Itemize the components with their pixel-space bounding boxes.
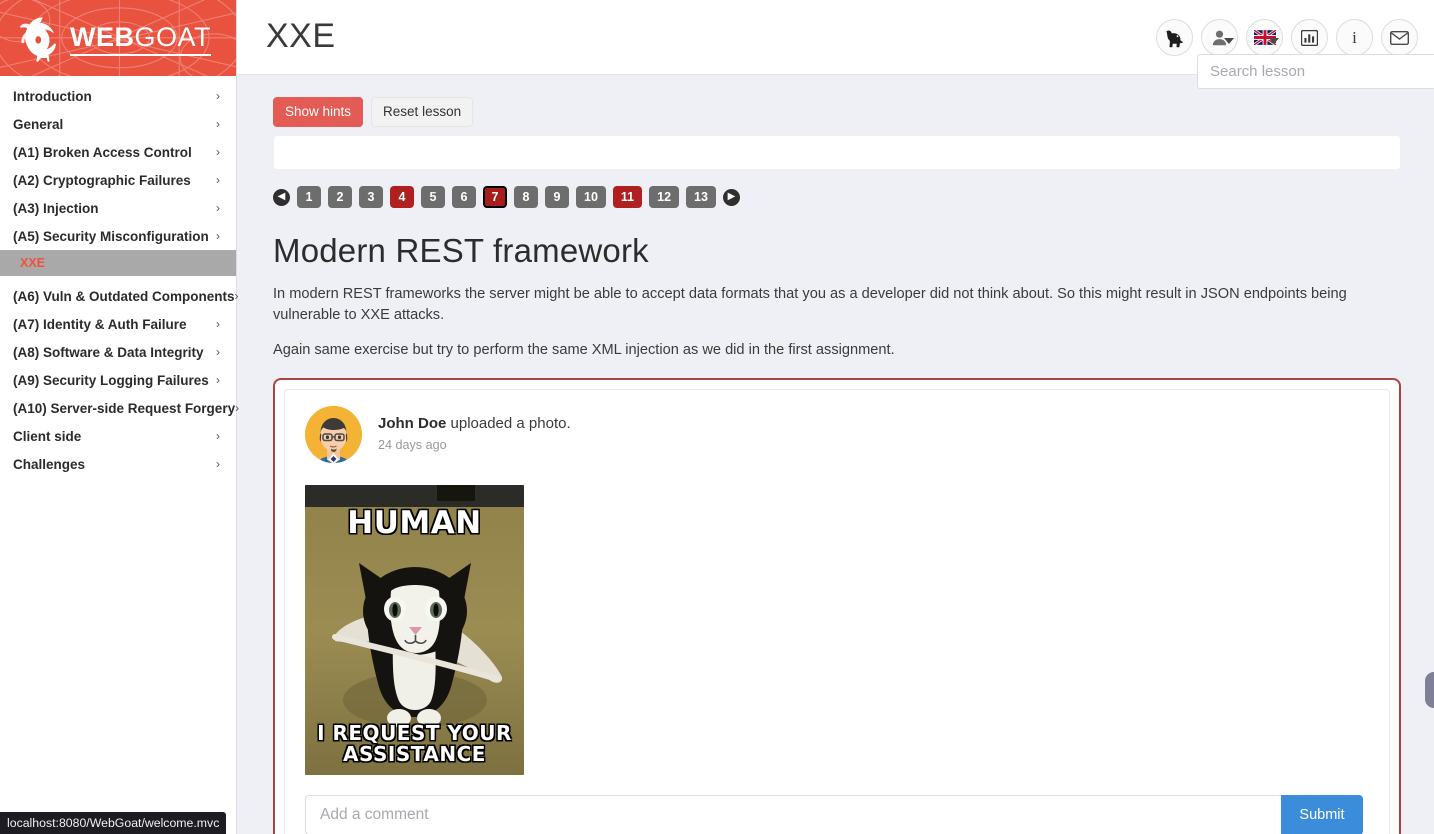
post-timestamp: 24 days ago [378,438,571,452]
page-button-11[interactable]: 11 [613,186,642,208]
page-button-13[interactable]: 13 [686,186,716,208]
sidebar-item-xxe[interactable]: XXE [0,250,236,276]
page-button-3[interactable]: 3 [359,186,383,208]
sidebar-item-challenges[interactable]: Challenges › [0,450,236,478]
sidebar-item-label: (A2) Cryptographic Failures [13,173,191,188]
sidebar-item-a8-software-data-integrity[interactable]: (A8) Software & Data Integrity › [0,338,236,366]
sidebar-item-label: Challenges [13,457,85,472]
sidebar-item-label: (A3) Injection [13,201,99,216]
sidebar-item-a6-vuln-outdated-components[interactable]: (A6) Vuln & Outdated Components › [0,282,236,310]
chevron-right-icon: › [216,117,220,131]
scroll-indicator[interactable] [1425,672,1434,708]
comment-form: Submit [305,795,1363,834]
sidebar-item-client-side[interactable]: Client side › [0,422,236,450]
meme-bottom-caption: I REQUEST YOUR ASSISTANCE [305,723,524,765]
sidebar-item-a3-injection[interactable]: (A3) Injection › [0,194,236,222]
chevron-right-icon: › [216,229,220,243]
chevron-right-icon: › [216,457,220,471]
cat-meme-image: HUMAN I REQUEST YOUR ASSISTANCE [305,485,524,775]
sidebar-item-introduction[interactable]: Introduction › [0,82,236,110]
brand-header[interactable]: WEBGOAT [0,0,236,76]
post-header: John Doe uploaded a photo. 24 days ago [305,406,1369,463]
post-meta: John Doe uploaded a photo. 24 days ago [378,406,571,452]
sidebar-item-label: (A5) Security Misconfiguration [13,229,209,244]
chevron-right-icon: › [216,345,220,359]
arrow-left-icon: ◀ [278,192,286,202]
info-icon: i [1352,28,1357,48]
status-bar-url: localhost:8080/WebGoat/welcome.mvc [7,816,219,830]
stats-button[interactable] [1291,19,1328,56]
goat-icon [1164,28,1186,48]
chevron-right-icon: › [216,317,220,331]
arrow-right-icon: ▶ [728,192,736,202]
page-button-5[interactable]: 5 [421,186,445,208]
chevron-right-icon: › [216,373,220,387]
sidebar-item-a2-cryptographic-failures[interactable]: (A2) Cryptographic Failures › [0,166,236,194]
assignment-card: John Doe uploaded a photo. 24 days ago [273,378,1401,834]
user-menu-button[interactable] [1201,19,1238,56]
hint-panel [273,135,1401,170]
info-button[interactable]: i [1336,19,1373,56]
sidebar-item-label: (A10) Server-side Request Forgery [13,401,235,416]
sidebar-item-label: (A9) Security Logging Failures [13,373,209,388]
top-header: XXE [237,0,1434,75]
search-input[interactable] [1198,55,1434,88]
lesson-paragraph-1: In modern REST frameworks the server mig… [273,284,1401,325]
brand-web: WEB [70,22,135,56]
page-button-2[interactable]: 2 [328,186,352,208]
sidebar: WEBGOAT Introduction › General › (A1) Br… [0,0,237,834]
pagination-prev-button[interactable]: ◀ [273,189,290,206]
sidebar-item-label: (A8) Software & Data Integrity [13,345,204,360]
status-bar: localhost:8080/WebGoat/welcome.mvc [0,812,226,834]
lesson-content: Show hints Reset lesson ◀ 1 2 3 4 5 6 7 … [237,75,1434,834]
chevron-right-icon: › [216,89,220,103]
sidebar-item-general[interactable]: General › [0,110,236,138]
sidebar-item-a5-security-misconfiguration[interactable]: (A5) Security Misconfiguration › [0,222,236,250]
user-avatar-image [305,406,362,463]
page-button-12[interactable]: 12 [649,186,679,208]
chevron-right-icon: › [216,201,220,215]
sidebar-item-label: Introduction [13,89,92,104]
sidebar-item-a9-security-logging-failures[interactable]: (A9) Security Logging Failures › [0,366,236,394]
page-button-4[interactable]: 4 [390,186,414,208]
chevron-right-icon: › [235,289,239,303]
meme-top-caption: HUMAN [305,507,524,540]
submit-comment-button[interactable]: Submit [1281,795,1363,834]
assignment-inner-panel: John Doe uploaded a photo. 24 days ago [284,389,1390,834]
page-button-9[interactable]: 9 [545,186,569,208]
chevron-down-icon [1224,38,1234,44]
sidebar-item-a1-broken-access-control[interactable]: (A1) Broken Access Control › [0,138,236,166]
chevron-right-icon: › [216,173,220,187]
lesson-title: Modern REST framework [273,232,1401,270]
post-action: uploaded a photo. [446,415,570,432]
envelope-icon [1390,31,1409,45]
show-hints-button[interactable]: Show hints [273,97,363,127]
chevron-down-icon [1269,38,1279,44]
comment-input[interactable] [305,795,1281,834]
sidebar-item-label: XXE [20,256,45,270]
brand-goat: GOAT [135,22,212,56]
lesson-paragraph-2: Again same exercise but try to perform t… [273,340,1401,361]
brand-wordmark: WEBGOAT [70,22,211,53]
sidebar-item-label: (A1) Broken Access Control [13,145,192,160]
sidebar-item-label: Client side [13,429,81,444]
lesson-action-buttons: Show hints Reset lesson [273,97,1401,127]
chart-icon [1301,30,1318,46]
reset-lesson-button[interactable]: Reset lesson [371,97,473,127]
sidebar-item-label: General [13,117,63,132]
main-area: XXE [237,0,1434,834]
post-author: John Doe [378,415,446,432]
page-button-1[interactable]: 1 [297,186,321,208]
chevron-right-icon: › [216,429,220,443]
sidebar-item-label: (A6) Vuln & Outdated Components [13,289,235,304]
chevron-right-icon: › [235,401,239,415]
page-button-6[interactable]: 6 [452,186,476,208]
messages-button[interactable] [1381,19,1418,56]
sidebar-item-label: (A7) Identity & Auth Failure [13,317,187,332]
search-lesson-container[interactable] [1197,54,1434,89]
page-button-7[interactable]: 7 [483,186,507,208]
sidebar-item-a7-identity-auth-failure[interactable]: (A7) Identity & Auth Failure › [0,310,236,338]
header-toolbar: i [1156,19,1418,56]
lesson-pagination: ◀ 1 2 3 4 5 6 7 8 9 10 11 12 13 ▶ [273,182,1401,212]
chevron-right-icon: › [216,145,220,159]
goat-head-icon [12,8,72,68]
avatar [305,406,362,463]
page-button-8[interactable]: 8 [514,186,538,208]
sidebar-item-a10-server-side-request-forgery[interactable]: (A10) Server-side Request Forgery › [0,394,236,422]
pagination-next-button[interactable]: ▶ [723,189,740,206]
post-author-line: John Doe uploaded a photo. [378,415,571,432]
language-menu-button[interactable] [1246,19,1283,56]
goat-icon-button[interactable] [1156,19,1193,56]
page-title: XXE [266,17,336,56]
page-button-10[interactable]: 10 [576,186,606,208]
